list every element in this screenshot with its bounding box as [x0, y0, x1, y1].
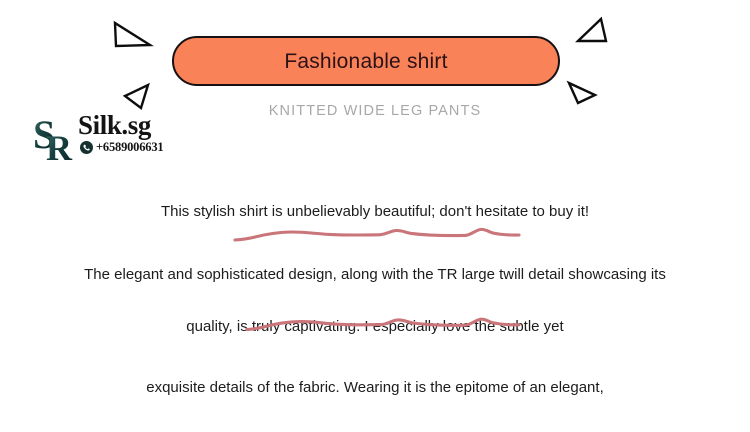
whatsapp-icon: [80, 141, 93, 154]
brand-wordmark: Silk.sg: [78, 112, 151, 139]
triangle-top-left-icon: [112, 18, 154, 50]
triangle-top-right-icon: [575, 14, 615, 46]
page-title: Fashionable shirt: [284, 51, 447, 72]
description-line: The elegant and sophisticated design, al…: [0, 267, 750, 282]
description-line: quality, is truly captivating. I especia…: [0, 319, 750, 334]
description-line: exquisite details of the fabric. Wearing…: [0, 380, 750, 395]
brand-phone-row: +6589006631: [80, 141, 163, 154]
description-line-text: The elegant and sophisticated design, al…: [84, 267, 666, 282]
description-line-text: quality, is truly captivating. I especia…: [186, 319, 563, 334]
brand-logo: S R Silk.sg +6589006631: [34, 110, 184, 168]
svg-text:R: R: [46, 128, 73, 162]
title-pill: Fashionable shirt: [172, 36, 560, 86]
description-line-text: This stylish shirt is unbelievably beaut…: [161, 204, 589, 219]
description-block: This stylish shirt is unbelievably beaut…: [0, 196, 750, 432]
description-line: This stylish shirt is unbelievably beaut…: [0, 204, 750, 219]
product-banner: Fashionable shirt KNITTED WIDE LEG PANTS…: [0, 0, 750, 432]
brand-phone-number: +6589006631: [96, 141, 163, 154]
description-line-text: exquisite details of the fabric. Wearing…: [146, 380, 604, 395]
